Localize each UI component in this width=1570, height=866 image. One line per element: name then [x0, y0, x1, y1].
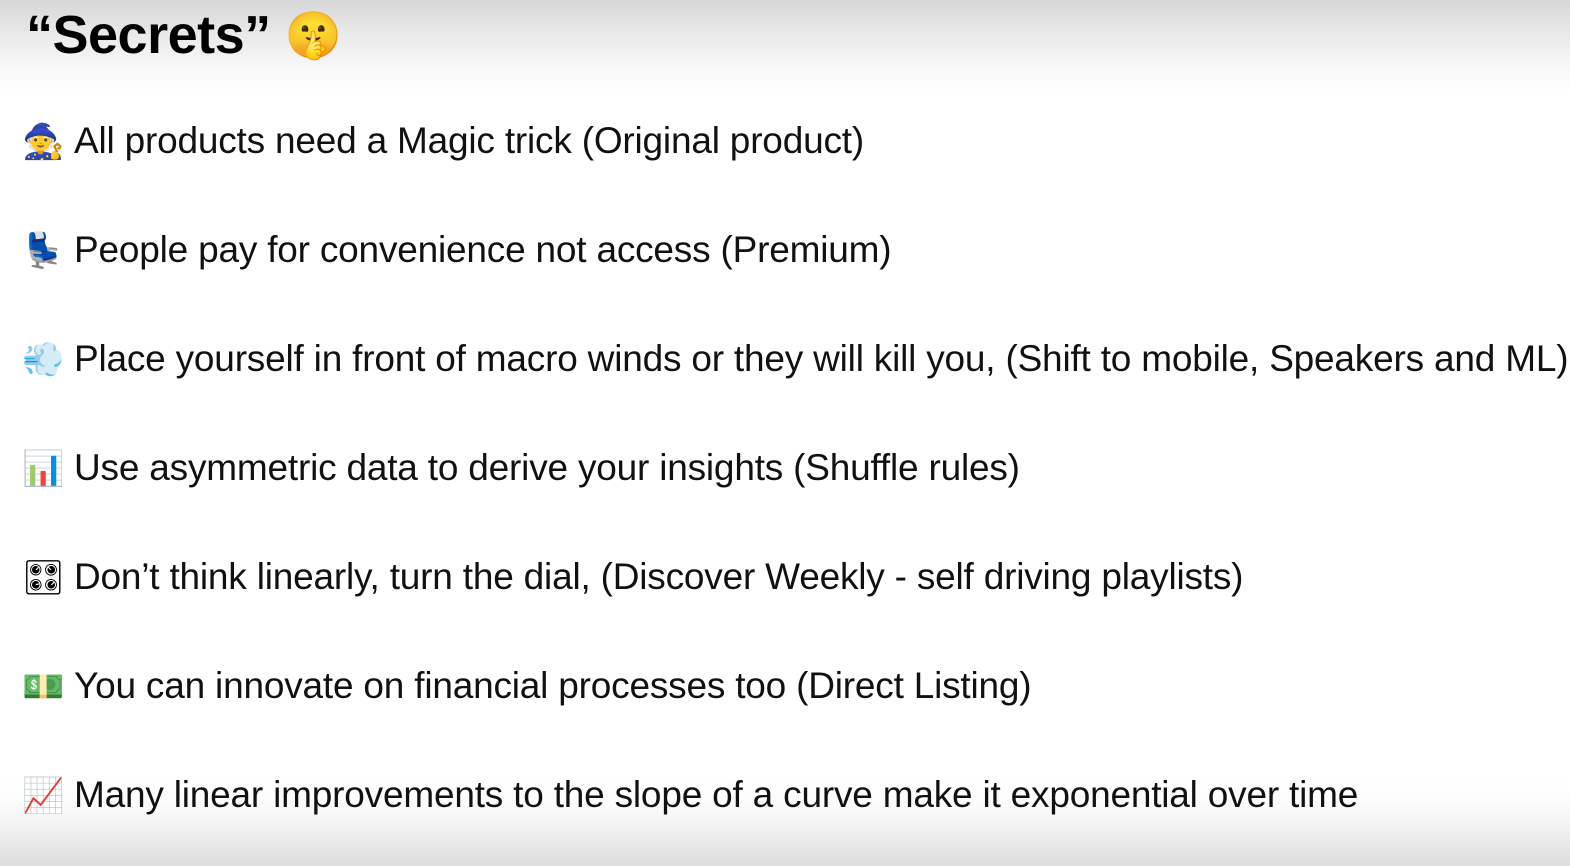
list-item-label: Don’t think linearly, turn the dial, (Di…: [74, 558, 1243, 595]
list-item-label: Place yourself in front of macro winds o…: [74, 340, 1568, 377]
slide-title: “Secrets”🤫: [26, 6, 341, 65]
list-item: 💺 People pay for convenience not access …: [22, 231, 1570, 340]
slide-title-text: “Secrets”: [26, 5, 271, 65]
bar-chart-icon: 📊: [22, 452, 74, 486]
seat-icon: 💺: [22, 234, 74, 268]
list-item-label: Use asymmetric data to derive your insig…: [74, 449, 1020, 486]
list-item: 📊 Use asymmetric data to derive your ins…: [22, 449, 1570, 558]
list-item-label: People pay for convenience not access (P…: [74, 231, 891, 268]
banknote-icon: 💵: [22, 670, 74, 704]
dashing-away-icon: 💨: [22, 343, 74, 377]
list-item: 📈 Many linear improvements to the slope …: [22, 776, 1570, 866]
list-item: 💵 You can innovate on financial processe…: [22, 667, 1570, 776]
list-item-label: Many linear improvements to the slope of…: [74, 776, 1358, 813]
presentation-slide: “Secrets”🤫 🧙 All products need a Magic t…: [0, 0, 1570, 866]
chart-increasing-icon: 📈: [22, 779, 74, 813]
shushing-face-icon: 🤫: [285, 9, 342, 61]
list-item-label: You can innovate on financial processes …: [74, 667, 1031, 704]
bullet-list: 🧙 All products need a Magic trick (Origi…: [22, 122, 1570, 866]
mage-icon: 🧙: [22, 125, 74, 159]
list-item: 💨 Place yourself in front of macro winds…: [22, 340, 1570, 449]
control-knob-icon: 🎛: [22, 561, 74, 595]
list-item: 🧙 All products need a Magic trick (Origi…: [22, 122, 1570, 231]
list-item: 🎛 Don’t think linearly, turn the dial, (…: [22, 558, 1570, 667]
list-item-label: All products need a Magic trick (Origina…: [74, 122, 864, 159]
